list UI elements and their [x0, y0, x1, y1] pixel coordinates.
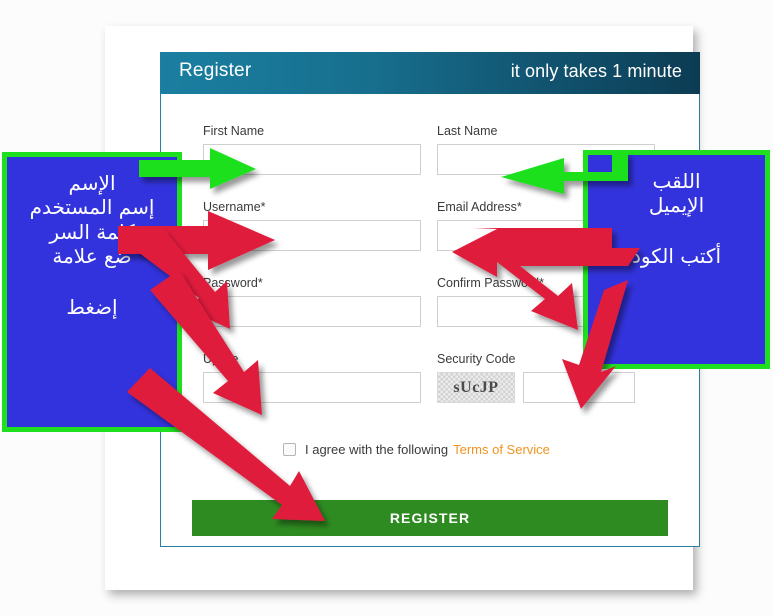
label-first-name: First Name [203, 124, 421, 138]
annotation-left-footer: إضغط [7, 295, 177, 319]
annotation-left-line-4: ضع علامة [7, 244, 177, 268]
input-username[interactable] [203, 220, 421, 251]
annotation-right-line-2: الإيميل [588, 193, 765, 217]
annotation-right-footer: أكتب الكود [588, 244, 765, 268]
input-security-code[interactable] [523, 372, 635, 403]
agree-checkbox[interactable] [283, 443, 296, 456]
input-password[interactable] [203, 296, 421, 327]
label-upline: Upline [203, 352, 421, 366]
captcha-row: sUcJP [437, 372, 635, 403]
header-subtitle: it only takes 1 minute [511, 61, 682, 82]
input-first-name[interactable] [203, 144, 421, 175]
annotation-right-spacer [588, 218, 765, 244]
captcha-image: sUcJP [437, 372, 515, 403]
label-last-name: Last Name [437, 124, 655, 138]
agree-label: I agree with the following [305, 442, 448, 457]
field-first-name: First Name [203, 124, 421, 175]
terms-of-service-link[interactable]: Terms of Service [453, 442, 550, 457]
annotation-left-spacer [7, 269, 177, 295]
annotation-left-line-2: إسم المستخدم [7, 195, 177, 219]
field-password: Password* [203, 276, 421, 327]
screenshot-root: First Name Last Name Username* Email Add… [0, 0, 773, 616]
annotation-left-line-3: كلمة السر [7, 220, 177, 244]
label-password: Password* [203, 276, 421, 290]
header-title: Register [179, 60, 251, 82]
register-button[interactable]: REGISTER [192, 500, 668, 536]
field-upline: Upline [203, 352, 421, 403]
field-username: Username* [203, 200, 421, 251]
terms-agree-row: I agree with the following Terms of Serv… [283, 442, 550, 457]
label-username: Username* [203, 200, 421, 214]
annotation-box-left: الإسم إسم المستخدم كلمة السر ضع علامة إض… [2, 152, 182, 432]
annotation-right-line-1: اللقب [588, 169, 765, 193]
annotation-left-line-1: الإسم [7, 171, 177, 195]
captcha-text: sUcJP [453, 379, 498, 397]
input-upline[interactable] [203, 372, 421, 403]
annotation-box-right: اللقب الإيميل أكتب الكود [583, 150, 770, 369]
register-header: Register it only takes 1 minute [160, 52, 700, 94]
